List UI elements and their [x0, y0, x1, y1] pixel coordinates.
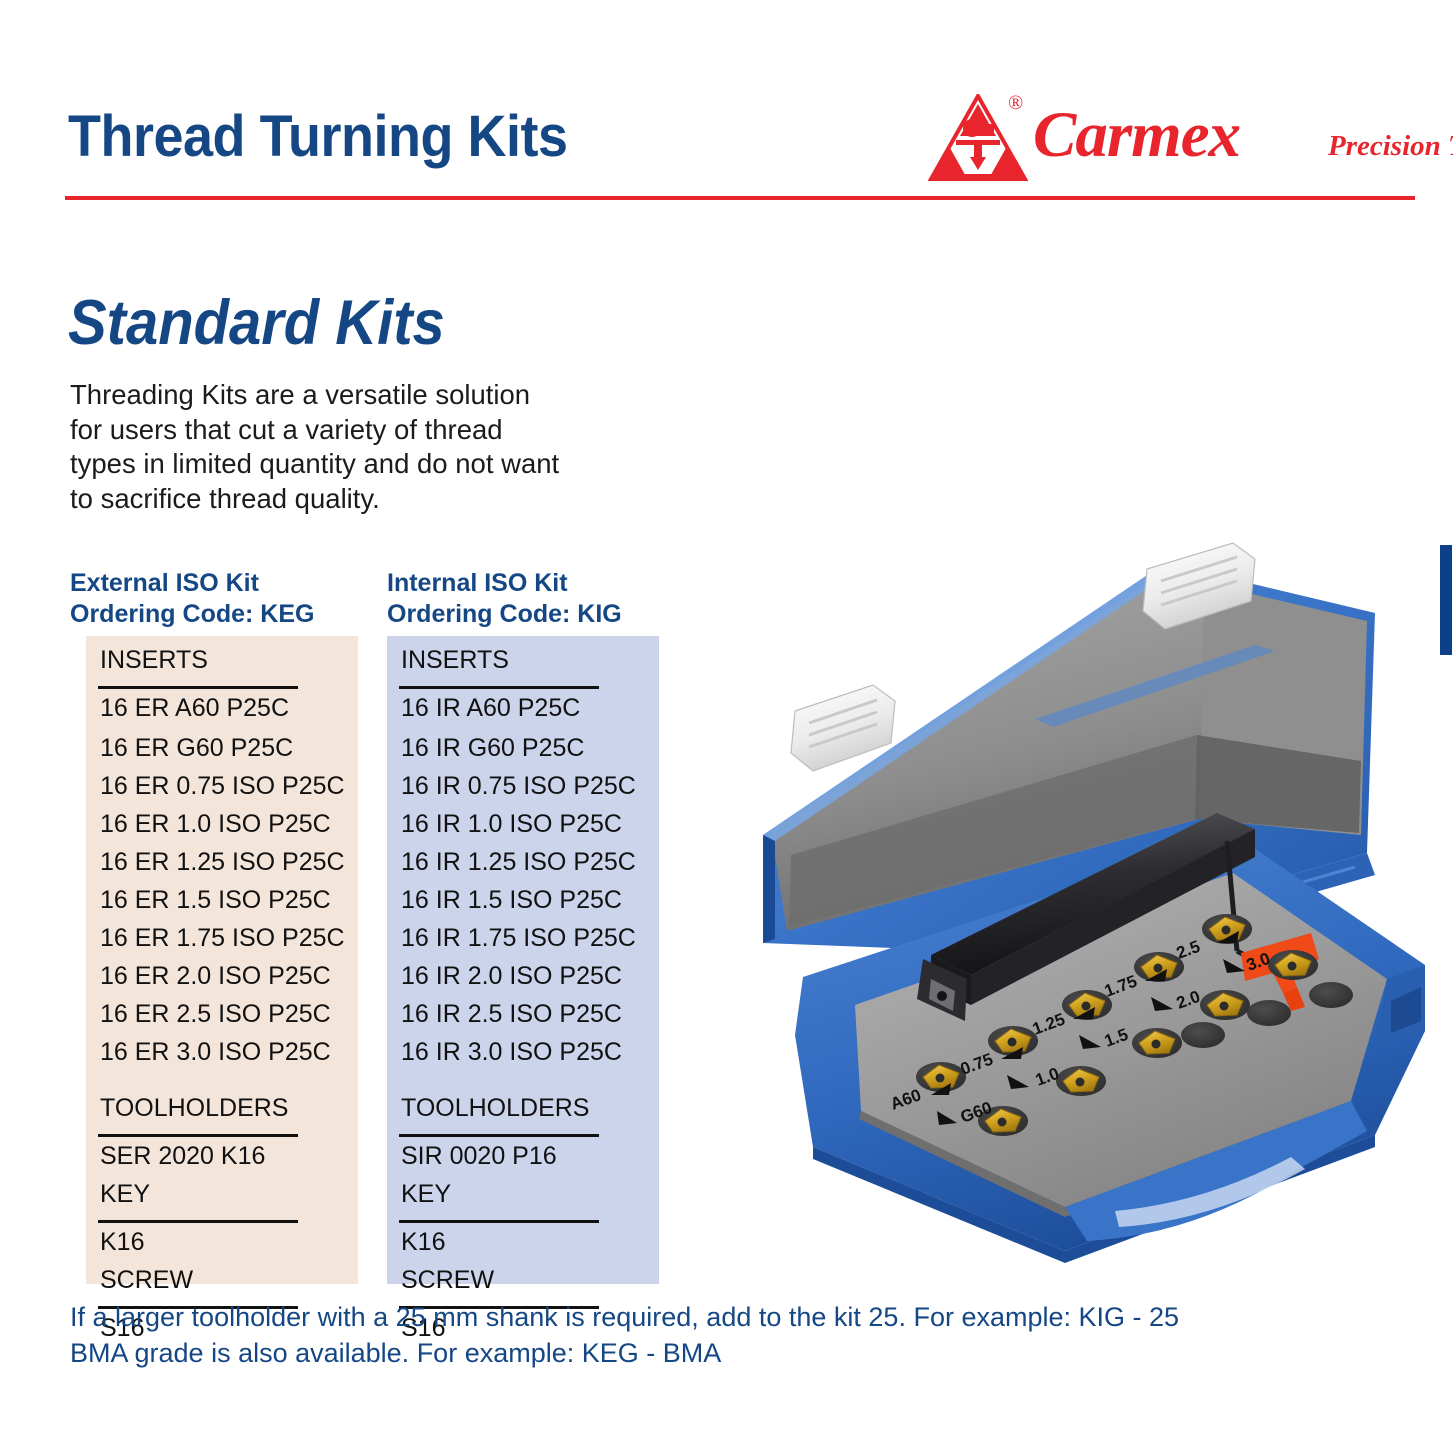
internal-insert-row: 16 IR 1.25 ISO P25C — [401, 848, 636, 877]
external-kit-heading-line2: Ordering Code: KEG — [70, 599, 314, 630]
external-insert-row: 16 ER G60 P25C — [100, 734, 293, 763]
internal-insert-row: 16 IR 2.0 ISO P25C — [401, 962, 622, 991]
foam-empty-cavity — [1181, 1022, 1225, 1048]
internal-insert-row: 16 IR 1.0 ISO P25C — [401, 810, 622, 839]
footnote-line2: BMA grade is also available. For example… — [70, 1336, 1270, 1372]
intro-line: to sacrifice thread quality. — [70, 482, 630, 517]
internal-key-row: K16 — [401, 1228, 445, 1257]
intro-line: Threading Kits are a versatile solution — [70, 378, 630, 413]
internal-insert-row: 16 IR 1.75 ISO P25C — [401, 924, 636, 953]
registered-trademark-icon: ® — [1008, 92, 1023, 115]
internal-key-rule — [399, 1220, 599, 1223]
header-divider — [65, 196, 1415, 200]
internal-toolholders-label: TOOLHOLDERS — [401, 1094, 589, 1123]
intro-line: for users that cut a variety of thread — [70, 413, 630, 448]
internal-key-label: KEY — [401, 1180, 451, 1209]
external-toolholder-row: SER 2020 K16 — [100, 1142, 265, 1171]
external-toolholders-label: TOOLHOLDERS — [100, 1094, 288, 1123]
product-photo-toolkit-case: A60 G60 0.75 1.0 1.25 1.5 1.75 2.0 2.5 3… — [735, 535, 1435, 1285]
external-inserts-rule — [98, 686, 298, 689]
insert-0-75 — [988, 1026, 1038, 1056]
internal-kit-heading-line2: Ordering Code: KIG — [387, 599, 622, 630]
internal-insert-row: 16 IR G60 P25C — [401, 734, 584, 763]
external-insert-row: 16 ER 1.25 ISO P25C — [100, 848, 345, 877]
insert-a60 — [916, 1062, 966, 1092]
external-kit-heading: External ISO Kit Ordering Code: KEG — [70, 568, 314, 629]
external-inserts-label: INSERTS — [100, 646, 208, 675]
external-key-label: KEY — [100, 1180, 150, 1209]
internal-kit-heading: Internal ISO Kit Ordering Code: KIG — [387, 568, 622, 629]
insert-1-5 — [1132, 1028, 1182, 1058]
section-intro: Threading Kits are a versatile solution … — [70, 378, 630, 517]
internal-kit-panel: INSERTS 16 IR A60 P25C 16 IR G60 P25C 16… — [387, 636, 659, 1284]
external-insert-row: 16 ER A60 P25C — [100, 694, 289, 723]
internal-kit-heading-line1: Internal ISO Kit — [387, 568, 622, 599]
external-kit-panel: INSERTS 16 ER A60 P25C 16 ER G60 P25C 16… — [86, 636, 358, 1284]
carmex-logo: Carmex Precision Tools Ltd. ® — [928, 92, 1428, 192]
external-insert-row: 16 ER 1.75 ISO P25C — [100, 924, 345, 953]
external-insert-row: 16 ER 2.0 ISO P25C — [100, 962, 331, 991]
external-insert-row: 16 ER 1.5 ISO P25C — [100, 886, 331, 915]
footnote-line1: If a larger toolholder with a 25 mm shan… — [70, 1300, 1270, 1336]
external-kit-heading-line1: External ISO Kit — [70, 568, 314, 599]
external-insert-row: 16 ER 2.5 ISO P25C — [100, 1000, 331, 1029]
foam-empty-cavity — [1309, 982, 1353, 1008]
section-title: Standard Kits — [68, 287, 445, 359]
logo-brand-text: Carmex — [1033, 98, 1240, 173]
page-title: Thread Turning Kits — [68, 103, 568, 170]
internal-inserts-label: INSERTS — [401, 646, 509, 675]
footnote: If a larger toolholder with a 25 mm shan… — [70, 1300, 1270, 1372]
internal-insert-row: 16 IR 2.5 ISO P25C — [401, 1000, 622, 1029]
internal-screw-label: SCREW — [401, 1266, 494, 1295]
external-insert-row: 16 ER 3.0 ISO P25C — [100, 1038, 331, 1067]
insert-3-0 — [1268, 950, 1318, 980]
internal-toolholder-row: SIR 0020 P16 — [401, 1142, 557, 1171]
insert-1-0 — [1056, 1066, 1106, 1096]
external-toolholders-rule — [98, 1134, 298, 1137]
internal-toolholders-rule — [399, 1134, 599, 1137]
external-screw-label: SCREW — [100, 1266, 193, 1295]
external-insert-row: 16 ER 1.0 ISO P25C — [100, 810, 331, 839]
external-key-rule — [98, 1220, 298, 1223]
internal-inserts-rule — [399, 686, 599, 689]
internal-insert-row: 16 IR 1.5 ISO P25C — [401, 886, 622, 915]
foam-empty-cavity — [1247, 1000, 1291, 1026]
logo-tagline-text: Precision Tools Ltd. — [1328, 130, 1453, 163]
external-insert-row: 16 ER 0.75 ISO P25C — [100, 772, 345, 801]
external-key-row: K16 — [100, 1228, 144, 1257]
page-edge-tab — [1440, 545, 1452, 655]
internal-insert-row: 16 IR 3.0 ISO P25C — [401, 1038, 622, 1067]
intro-line: types in limited quantity and do not wan… — [70, 447, 630, 482]
internal-insert-row: 16 IR 0.75 ISO P25C — [401, 772, 636, 801]
insert-2-0 — [1200, 990, 1250, 1020]
internal-insert-row: 16 IR A60 P25C — [401, 694, 580, 723]
